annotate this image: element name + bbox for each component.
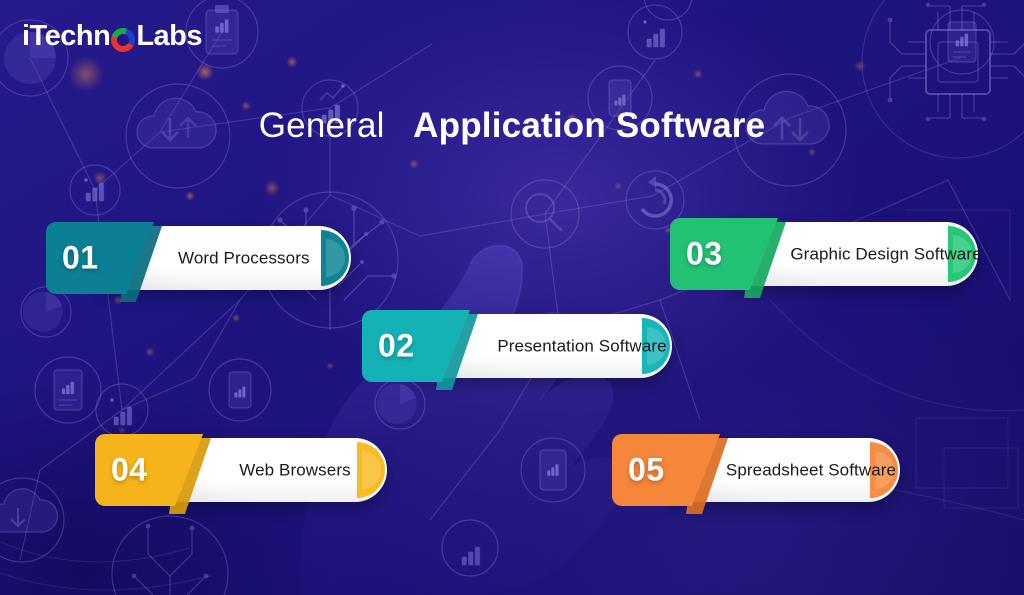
card-number: 03 [686,236,723,273]
card-label: Graphic Design Software [782,244,990,265]
page-title: General Application Software [0,104,1024,148]
circuit-node-icon [112,516,228,595]
bar-chart-icon [628,5,682,59]
hand-silhouette-graphic [300,246,626,595]
card-label: Word Processors [178,248,328,269]
card-label: Web Browsers [195,460,395,481]
brand-name-part1: iTechn [22,20,110,53]
bar-chart-icon [70,165,120,215]
card-number: 01 [62,240,99,277]
title-light-part: General [259,106,385,145]
brand-name-part2: Labs [136,20,202,53]
card-label: Spreadsheet Software [710,460,912,481]
search-icon [511,180,579,248]
card-number: 05 [628,452,665,489]
document-chart-icon [930,10,994,74]
pie-chart-icon [375,379,425,429]
card-label: Presentation Software [482,336,682,357]
brand-logo[interactable]: iTechn Labs [22,20,202,53]
list-item-card-04[interactable]: 04 Web Browsers [95,434,387,506]
title-bold-part: Application Software [413,106,765,145]
bar-chart-icon [644,0,692,20]
pie-chart-icon [21,287,71,337]
list-item-card-03[interactable]: 03 Graphic Design Software [670,218,978,290]
clipboard-chart-icon [521,438,585,502]
bar-chart-icon [96,384,148,436]
list-item-card-02[interactable]: 02 Presentation Software [362,310,672,382]
cloud-download-icon [0,478,64,562]
list-item-card-01[interactable]: 01 Word Processors [46,222,351,294]
multicolor-ring-icon [111,28,135,52]
infographic-canvas: iTechn Labs General Application Software… [0,0,1024,595]
card-number: 02 [378,328,415,365]
bar-chart-icon [442,520,498,576]
list-item-card-05[interactable]: 05 Spreadsheet Software [612,434,900,506]
document-chart-icon [35,357,101,423]
mobile-chart-icon [209,359,271,421]
card-number: 04 [111,452,148,489]
